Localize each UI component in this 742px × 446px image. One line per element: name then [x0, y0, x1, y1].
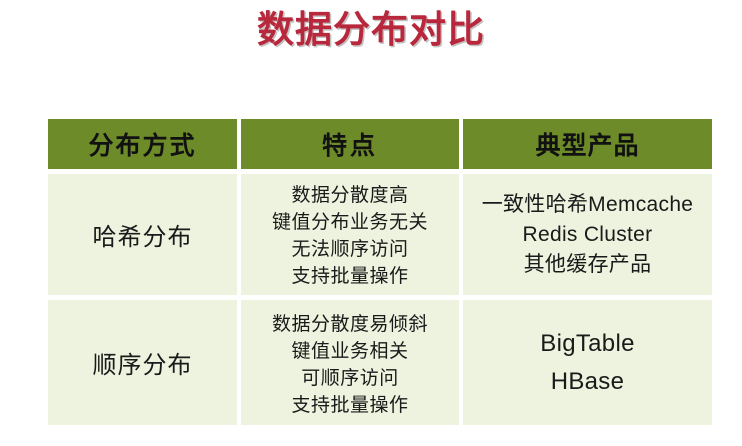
cell-features-hash: 数据分散度高 键值分布业务无关 无法顺序访问 支持批量操作: [241, 174, 459, 295]
column-header-features: 特点: [241, 119, 459, 169]
feature-line: 键值业务相关: [291, 338, 408, 365]
product-line: 其他缓存产品: [524, 250, 652, 280]
product-line: BigTable: [540, 325, 634, 363]
column-header-method: 分布方式: [48, 119, 237, 169]
feature-line: 数据分散度易倾斜: [272, 311, 428, 338]
column-header-products: 典型产品: [463, 119, 712, 169]
slide-root: 数据分布对比 分布方式 特点 典型产品 哈希分布 数据分散度高 键值分布业务无关…: [0, 0, 742, 446]
product-line: HBase: [551, 363, 625, 401]
cell-products-sequential: BigTable HBase: [463, 300, 712, 425]
feature-line: 支持批量操作: [291, 263, 408, 290]
table-header-row: 分布方式 特点 典型产品: [48, 119, 712, 169]
table-row: 顺序分布 数据分散度易倾斜 键值业务相关 可顺序访问 支持批量操作 BigTab…: [48, 300, 712, 425]
cell-products-hash: 一致性哈希Memcache Redis Cluster 其他缓存产品: [463, 174, 712, 295]
feature-line: 可顺序访问: [301, 365, 399, 392]
table-row: 哈希分布 数据分散度高 键值分布业务无关 无法顺序访问 支持批量操作 一致性哈希…: [48, 174, 712, 295]
feature-line: 无法顺序访问: [291, 236, 408, 263]
product-line: 一致性哈希Memcache: [482, 190, 694, 220]
page-title: 数据分布对比: [0, 4, 742, 56]
cell-method-sequential: 顺序分布: [48, 300, 237, 425]
feature-line: 数据分散度高: [291, 182, 408, 209]
feature-line: 支持批量操作: [291, 392, 408, 419]
product-line: Redis Cluster: [523, 220, 653, 250]
feature-line: 键值分布业务无关: [272, 209, 428, 236]
cell-method-hash: 哈希分布: [48, 174, 237, 295]
cell-features-sequential: 数据分散度易倾斜 键值业务相关 可顺序访问 支持批量操作: [241, 300, 459, 425]
comparison-table: 分布方式 特点 典型产品 哈希分布 数据分散度高 键值分布业务无关 无法顺序访问…: [48, 119, 712, 425]
